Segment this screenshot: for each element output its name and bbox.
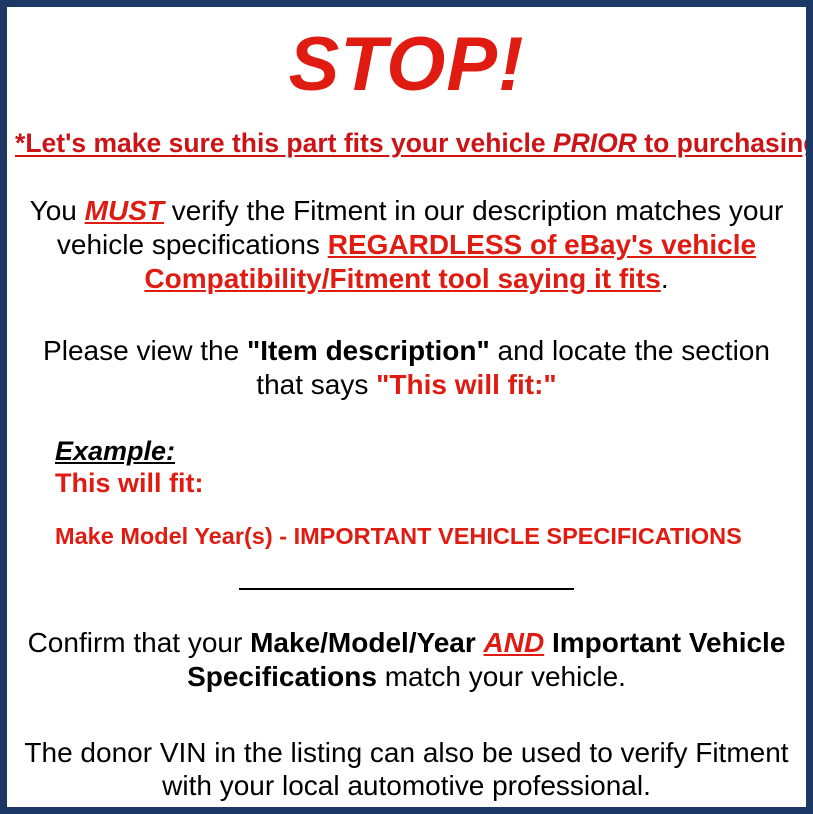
subtitle-prefix: *Let's make sure this part fits your veh… (15, 128, 553, 158)
must-text-1: You (30, 195, 85, 226)
divider-wrap (15, 580, 798, 598)
view-text-1: Please view the (43, 335, 247, 366)
example-label: Example: (55, 436, 798, 466)
item-description-label: "Item description" (247, 335, 490, 366)
example-block: Example: This will fit: Make Model Year(… (15, 436, 798, 550)
example-this-will-fit: This will fit: (55, 468, 798, 498)
paragraph-confirm: Confirm that your Make/Model/Year AND Im… (15, 626, 798, 694)
page-title: STOP! (15, 27, 798, 103)
confirm-text-2: match your vehicle. (377, 661, 626, 692)
notice-inner: STOP! *Let's make sure this part fits yo… (7, 27, 806, 814)
this-will-fit-label: "This will fit:" (376, 369, 557, 400)
fitment-notice-card: STOP! *Let's make sure this part fits yo… (0, 0, 813, 814)
paragraph-donor-vin: The donor VIN in the listing can also be… (15, 736, 798, 804)
confirm-space-1 (476, 627, 484, 658)
must-text-3: . (661, 263, 669, 294)
example-spec-line: Make Model Year(s) - IMPORTANT VEHICLE S… (55, 524, 798, 550)
must-emphasis: MUST (85, 195, 164, 226)
subtitle-emphasis: PRIOR (553, 128, 637, 158)
confirm-text-1: Confirm that your (28, 627, 251, 658)
make-model-year-label: Make/Model/Year (250, 627, 476, 658)
section-divider (239, 588, 574, 590)
paragraph-item-description: Please view the "Item description" and l… (15, 334, 798, 402)
and-emphasis: AND (484, 627, 545, 658)
subtitle-banner: *Let's make sure this part fits your veh… (15, 129, 798, 158)
paragraph-must-verify: You MUST verify the Fitment in our descr… (15, 194, 798, 296)
subtitle-suffix: to purchasing* (637, 128, 813, 158)
confirm-space-2 (544, 627, 552, 658)
